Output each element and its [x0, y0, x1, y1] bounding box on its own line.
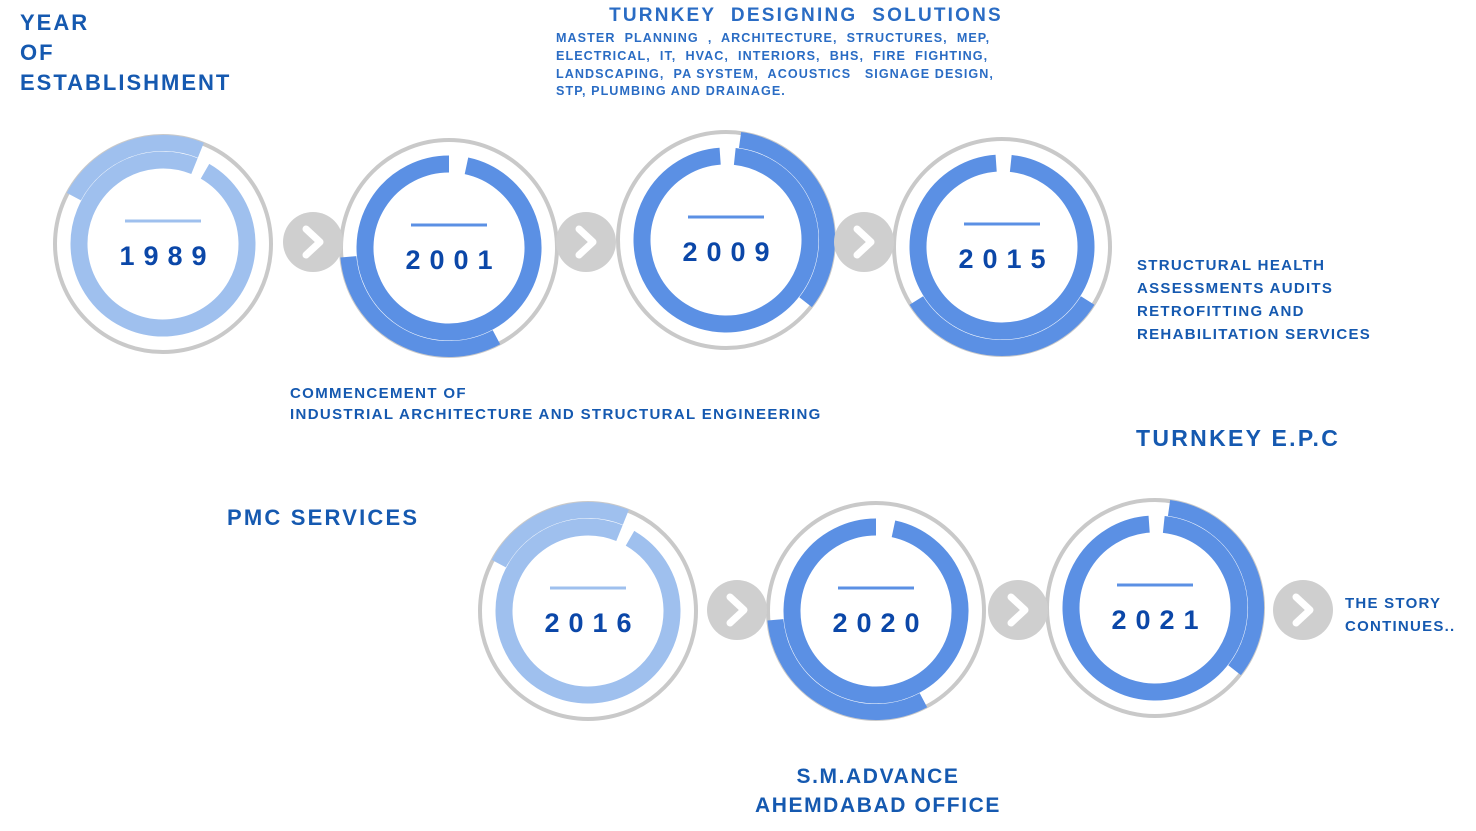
caption-2020: S.M.ADVANCE AHEMDABAD OFFICE — [720, 762, 1036, 820]
year-value: 2009 — [596, 237, 856, 268]
chevron-disc — [283, 212, 343, 272]
caption-story-continues: THE STORY CONTINUES.. — [1345, 592, 1455, 638]
milestone-2020[interactable]: 2020 — [746, 481, 1006, 741]
chevron-2001-2009[interactable] — [556, 212, 616, 272]
milestone-1989[interactable]: 1989 — [33, 114, 293, 374]
chevron-2020-2021[interactable] — [988, 580, 1048, 640]
timeline-infographic: YEAR OF ESTABLISHMENT TURNKEY DESIGNING … — [0, 0, 1476, 831]
caption-2015: STRUCTURAL HEALTH ASSESSMENTS AUDITS RET… — [1137, 254, 1371, 346]
milestone-2021[interactable]: 2021 — [1025, 478, 1285, 738]
caption-2016: PMC SERVICES — [227, 505, 419, 531]
year-value: 2001 — [319, 245, 579, 276]
chevron-disc — [1273, 580, 1333, 640]
year-value: 2015 — [872, 244, 1132, 275]
chevron-disc — [556, 212, 616, 272]
milestone-2015[interactable]: 2015 — [872, 117, 1132, 377]
milestone-2016[interactable]: 2016 — [458, 481, 718, 741]
caption-2001: COMMENCEMENT OF INDUSTRIAL ARCHITECTURE … — [290, 383, 822, 425]
year-value: 1989 — [33, 241, 293, 272]
turnkey-heading: TURNKEY DESIGNING SOLUTIONS — [556, 5, 1056, 27]
year-value: 2020 — [746, 608, 1006, 639]
chevron-2021-end[interactable] — [1273, 580, 1333, 640]
year-value: 2016 — [458, 608, 718, 639]
caption-2021: TURNKEY E.P.C — [1136, 425, 1340, 452]
milestone-2001[interactable]: 2001 — [319, 118, 579, 378]
chevron-2009-2015[interactable] — [834, 212, 894, 272]
year-value: 2021 — [1025, 605, 1285, 636]
page-title: YEAR OF ESTABLISHMENT — [20, 8, 231, 98]
turnkey-services-list: MASTER PLANNING , ARCHITECTURE, STRUCTUR… — [556, 30, 994, 101]
chevron-disc — [707, 580, 767, 640]
milestone-2009[interactable]: 2009 — [596, 110, 856, 370]
chevron-1989-2001[interactable] — [283, 212, 343, 272]
chevron-2016-2020[interactable] — [707, 580, 767, 640]
chevron-disc — [834, 212, 894, 272]
chevron-disc — [988, 580, 1048, 640]
